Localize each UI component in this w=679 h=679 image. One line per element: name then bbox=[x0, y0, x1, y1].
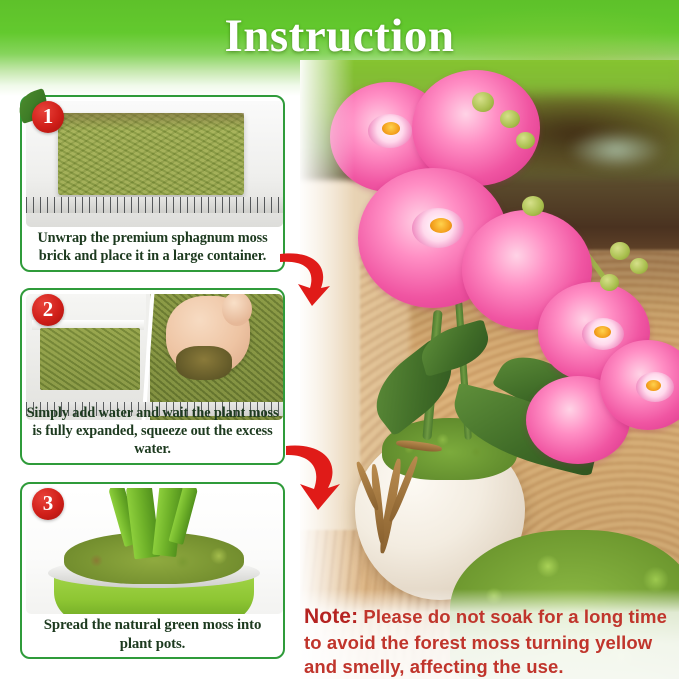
step-badge-1-number: 1 bbox=[43, 106, 54, 127]
orchid-bud bbox=[630, 258, 648, 274]
note-label: Note: bbox=[304, 605, 358, 628]
expanded-moss bbox=[40, 328, 140, 390]
orchid-bud bbox=[500, 110, 520, 128]
step-3-image bbox=[26, 488, 283, 614]
step-badge-3: 3 bbox=[32, 488, 64, 520]
orchid-bud bbox=[472, 92, 494, 112]
product-photo bbox=[300, 60, 679, 679]
step-2-image bbox=[26, 294, 283, 420]
orchid-column bbox=[430, 218, 452, 233]
step-3-caption: Spread the natural green moss into plant… bbox=[26, 616, 279, 653]
orchid-bud bbox=[522, 196, 544, 216]
orchid-bud bbox=[610, 242, 630, 260]
curved-arrow-1-icon bbox=[272, 248, 334, 310]
photo-left-fade bbox=[300, 60, 354, 679]
page-title: Instruction bbox=[0, 9, 679, 63]
step-badge-3-number: 3 bbox=[43, 493, 54, 514]
step-1-image bbox=[26, 101, 283, 227]
note-body: Please do not soak for a long time to av… bbox=[304, 606, 667, 677]
note-text: Note: Please do not soak for a long time… bbox=[304, 604, 676, 678]
ruler bbox=[26, 197, 283, 213]
curved-arrow-2-icon bbox=[272, 442, 342, 512]
orchid-column bbox=[382, 122, 400, 135]
photo-teal-blur-patch bbox=[568, 130, 664, 170]
orchid-column bbox=[594, 326, 611, 338]
moss-clump bbox=[176, 346, 232, 380]
step-badge-2: 2 bbox=[32, 294, 64, 326]
step-2-caption: Simply add water and wait the plant moss… bbox=[26, 405, 279, 459]
step-badge-1: 1 bbox=[32, 101, 64, 133]
orchid-bud bbox=[516, 132, 535, 149]
orchid-column bbox=[646, 380, 661, 391]
orchid-bud bbox=[600, 274, 619, 291]
step-badge-2-number: 2 bbox=[43, 299, 54, 320]
step-1-caption: Unwrap the premium sphagnum moss brick a… bbox=[26, 230, 279, 266]
moss-brick-shading bbox=[58, 113, 244, 129]
